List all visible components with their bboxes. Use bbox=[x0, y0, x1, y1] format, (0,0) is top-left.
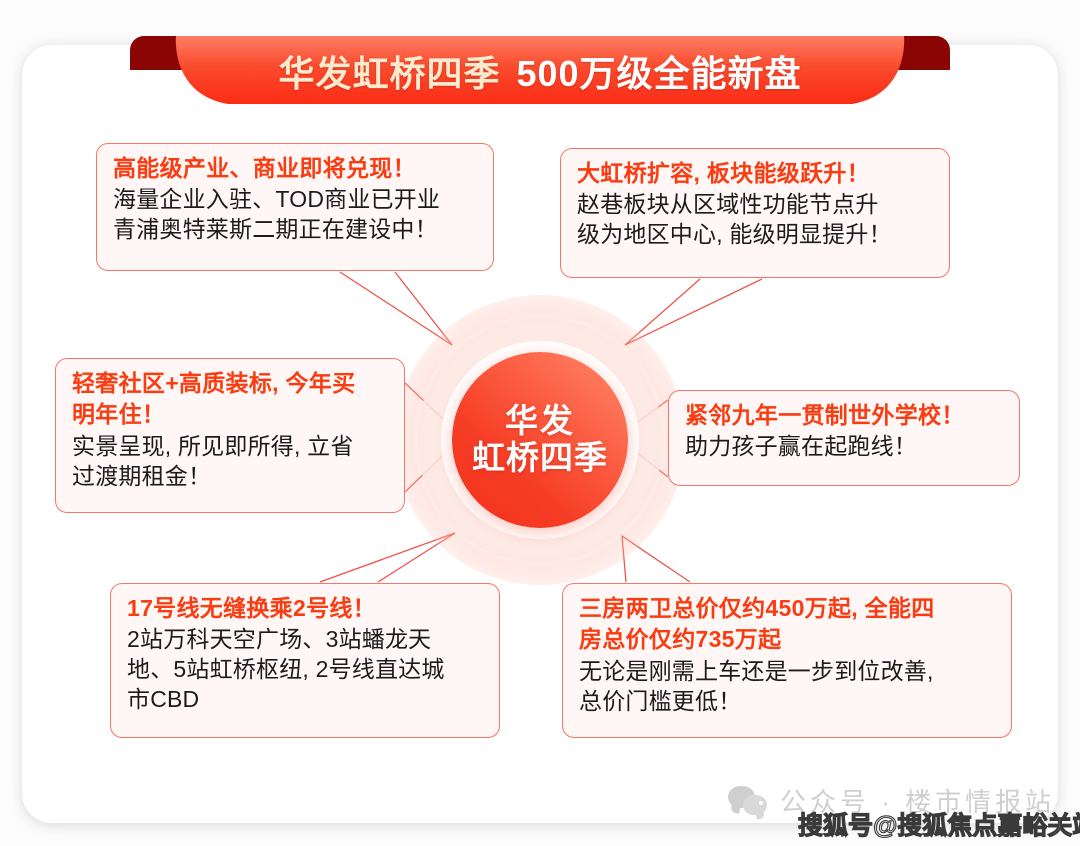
banner-title-primary: 华发虹桥四季 bbox=[278, 45, 500, 97]
card-hongqiao-body-line-2: 级为地区中心, 能级明显提升！ bbox=[577, 220, 933, 250]
card-industry-headline: 高能级产业、商业即将兑现！ bbox=[113, 154, 477, 183]
center-hub: 华发 虹桥四季 bbox=[395, 295, 685, 585]
card-metro-body-line-2: 地、5站虹桥枢纽, 2号线直达城 bbox=[127, 655, 483, 685]
banner-title-secondary: 500万级全能新盘 bbox=[516, 45, 801, 97]
card-school-body-line-1: 助力孩子赢在起跑线！ bbox=[685, 432, 1003, 462]
card-community-body-line-2: 过渡期租金！ bbox=[72, 462, 388, 492]
card-community-body-line-1: 实景呈现, 所见即所得, 立省 bbox=[72, 432, 388, 462]
hub-title-line-1: 华发 bbox=[505, 403, 575, 440]
card-metro-body-line-1: 2站万科天空广场、3站蟠龙天 bbox=[127, 625, 483, 655]
wechat-icon bbox=[728, 786, 768, 816]
card-hongqiao: 大虹桥扩容, 板块能级跃升！ 赵巷板块从区域性功能节点升 级为地区中心, 能级明… bbox=[560, 148, 950, 278]
card-community-headline-line-1: 轻奢社区+高质装标, 今年买 bbox=[72, 369, 388, 398]
banner-title: 华发虹桥四季 500万级全能新盘 bbox=[130, 36, 950, 106]
card-price: 三房两卫总价仅约450万起, 全能四 房总价仅约735万起 无论是刚需上车还是一… bbox=[562, 583, 1012, 738]
card-industry-body-line-1: 海量企业入驻、TOD商业已开业 bbox=[113, 185, 477, 215]
card-hongqiao-body-line-1: 赵巷板块从区域性功能节点升 bbox=[577, 190, 933, 220]
card-community: 轻奢社区+高质装标, 今年买 明年住！ 实景呈现, 所见即所得, 立省 过渡期租… bbox=[55, 358, 405, 513]
banner-ribbon: 华发虹桥四季 500万级全能新盘 bbox=[130, 18, 950, 126]
card-price-body-line-1: 无论是刚需上车还是一步到位改善, bbox=[579, 657, 995, 687]
card-school-headline: 紧邻九年一贯制世外学校！ bbox=[685, 401, 1003, 430]
source-watermark: 搜狐号@搜狐焦点嘉峪关站 bbox=[798, 806, 1080, 842]
card-price-headline-line-1: 三房两卫总价仅约450万起, 全能四 bbox=[579, 594, 995, 623]
card-industry: 高能级产业、商业即将兑现！ 海量企业入驻、TOD商业已开业 青浦奥特莱斯二期正在… bbox=[96, 143, 494, 271]
infographic-stage: 华发 虹桥四季 高能级产业、商业即将兑现！ 海量企业入驻、TOD商业已开业 青浦… bbox=[0, 0, 1080, 846]
card-school: 紧邻九年一贯制世外学校！ 助力孩子赢在起跑线！ bbox=[668, 390, 1020, 486]
card-price-body-line-2: 总价门槛更低！ bbox=[579, 687, 995, 717]
hub-core: 华发 虹桥四季 bbox=[452, 352, 628, 528]
card-metro-body-line-3: 市CBD bbox=[127, 685, 483, 715]
card-metro-headline: 17号线无缝换乘2号线！ bbox=[127, 594, 483, 623]
card-price-headline-line-2: 房总价仅约735万起 bbox=[579, 625, 995, 654]
hub-title-line-2: 虹桥四季 bbox=[472, 440, 608, 477]
card-industry-body-line-2: 青浦奥特莱斯二期正在建设中！ bbox=[113, 215, 477, 245]
card-community-headline-line-2: 明年住！ bbox=[72, 400, 388, 429]
card-metro: 17号线无缝换乘2号线！ 2站万科天空广场、3站蟠龙天 地、5站虹桥枢纽, 2号… bbox=[110, 583, 500, 738]
card-hongqiao-headline: 大虹桥扩容, 板块能级跃升！ bbox=[577, 159, 933, 188]
